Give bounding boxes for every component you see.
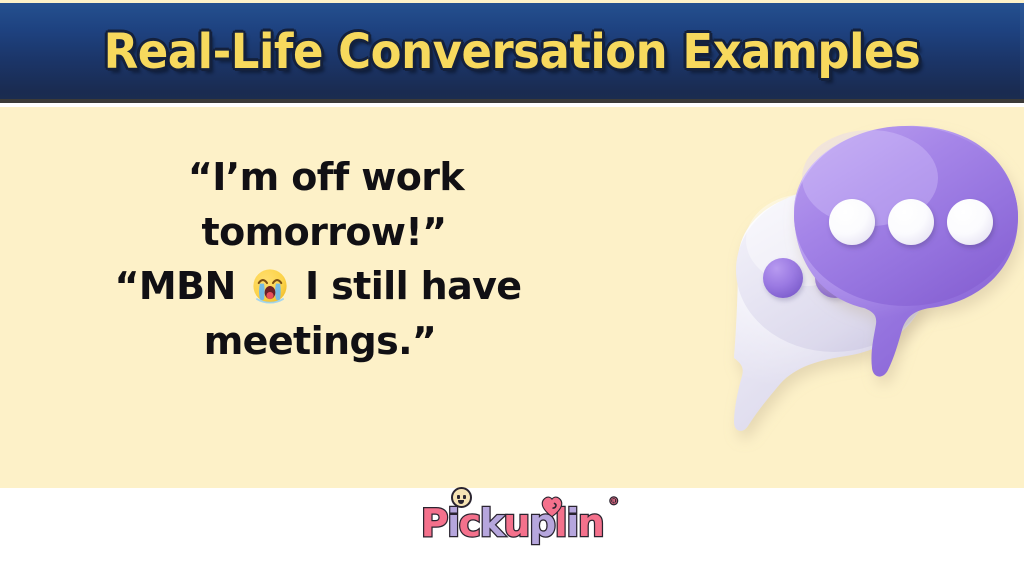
quote-line-1: “I’m off work [46,150,606,205]
quote-line-4: meetings.” [40,314,600,369]
quote-line-2: tomorrow!” [44,205,604,260]
heart-icon [540,485,564,507]
smiley-eye-left [457,495,460,499]
conversation-quote: “I’m off work tomorrow!” “MBN [40,150,600,369]
page-title: Real-Life Conversation Examples [104,23,921,79]
smiley-eye-right [463,495,466,499]
logo-wordmark: Pickuplin ® [421,504,604,542]
logo-letter: n [578,501,604,545]
quote-line-3-text-before: “MBN [115,264,236,308]
logo-letter: u [503,501,529,545]
quote-line-3-text-after: I still have [305,264,522,308]
logo-letter: i [447,501,459,545]
header-banner: Real-Life Conversation Examples [0,3,1024,103]
poster-canvas: Real-Life Conversation Examples “I’m off… [0,0,1024,576]
logo-letter: k [480,501,504,545]
smiley-face-icon [451,487,472,508]
logo-letter: P [421,501,447,545]
logo-letter: i [566,501,578,545]
smiley-mouth [458,500,464,504]
brand-logo[interactable]: Pickuplin ® [0,498,1024,548]
quote-line-3: “MBN [38,259,598,314]
loudly-crying-face-icon [251,265,289,303]
trademark-symbol: ® [609,498,618,507]
